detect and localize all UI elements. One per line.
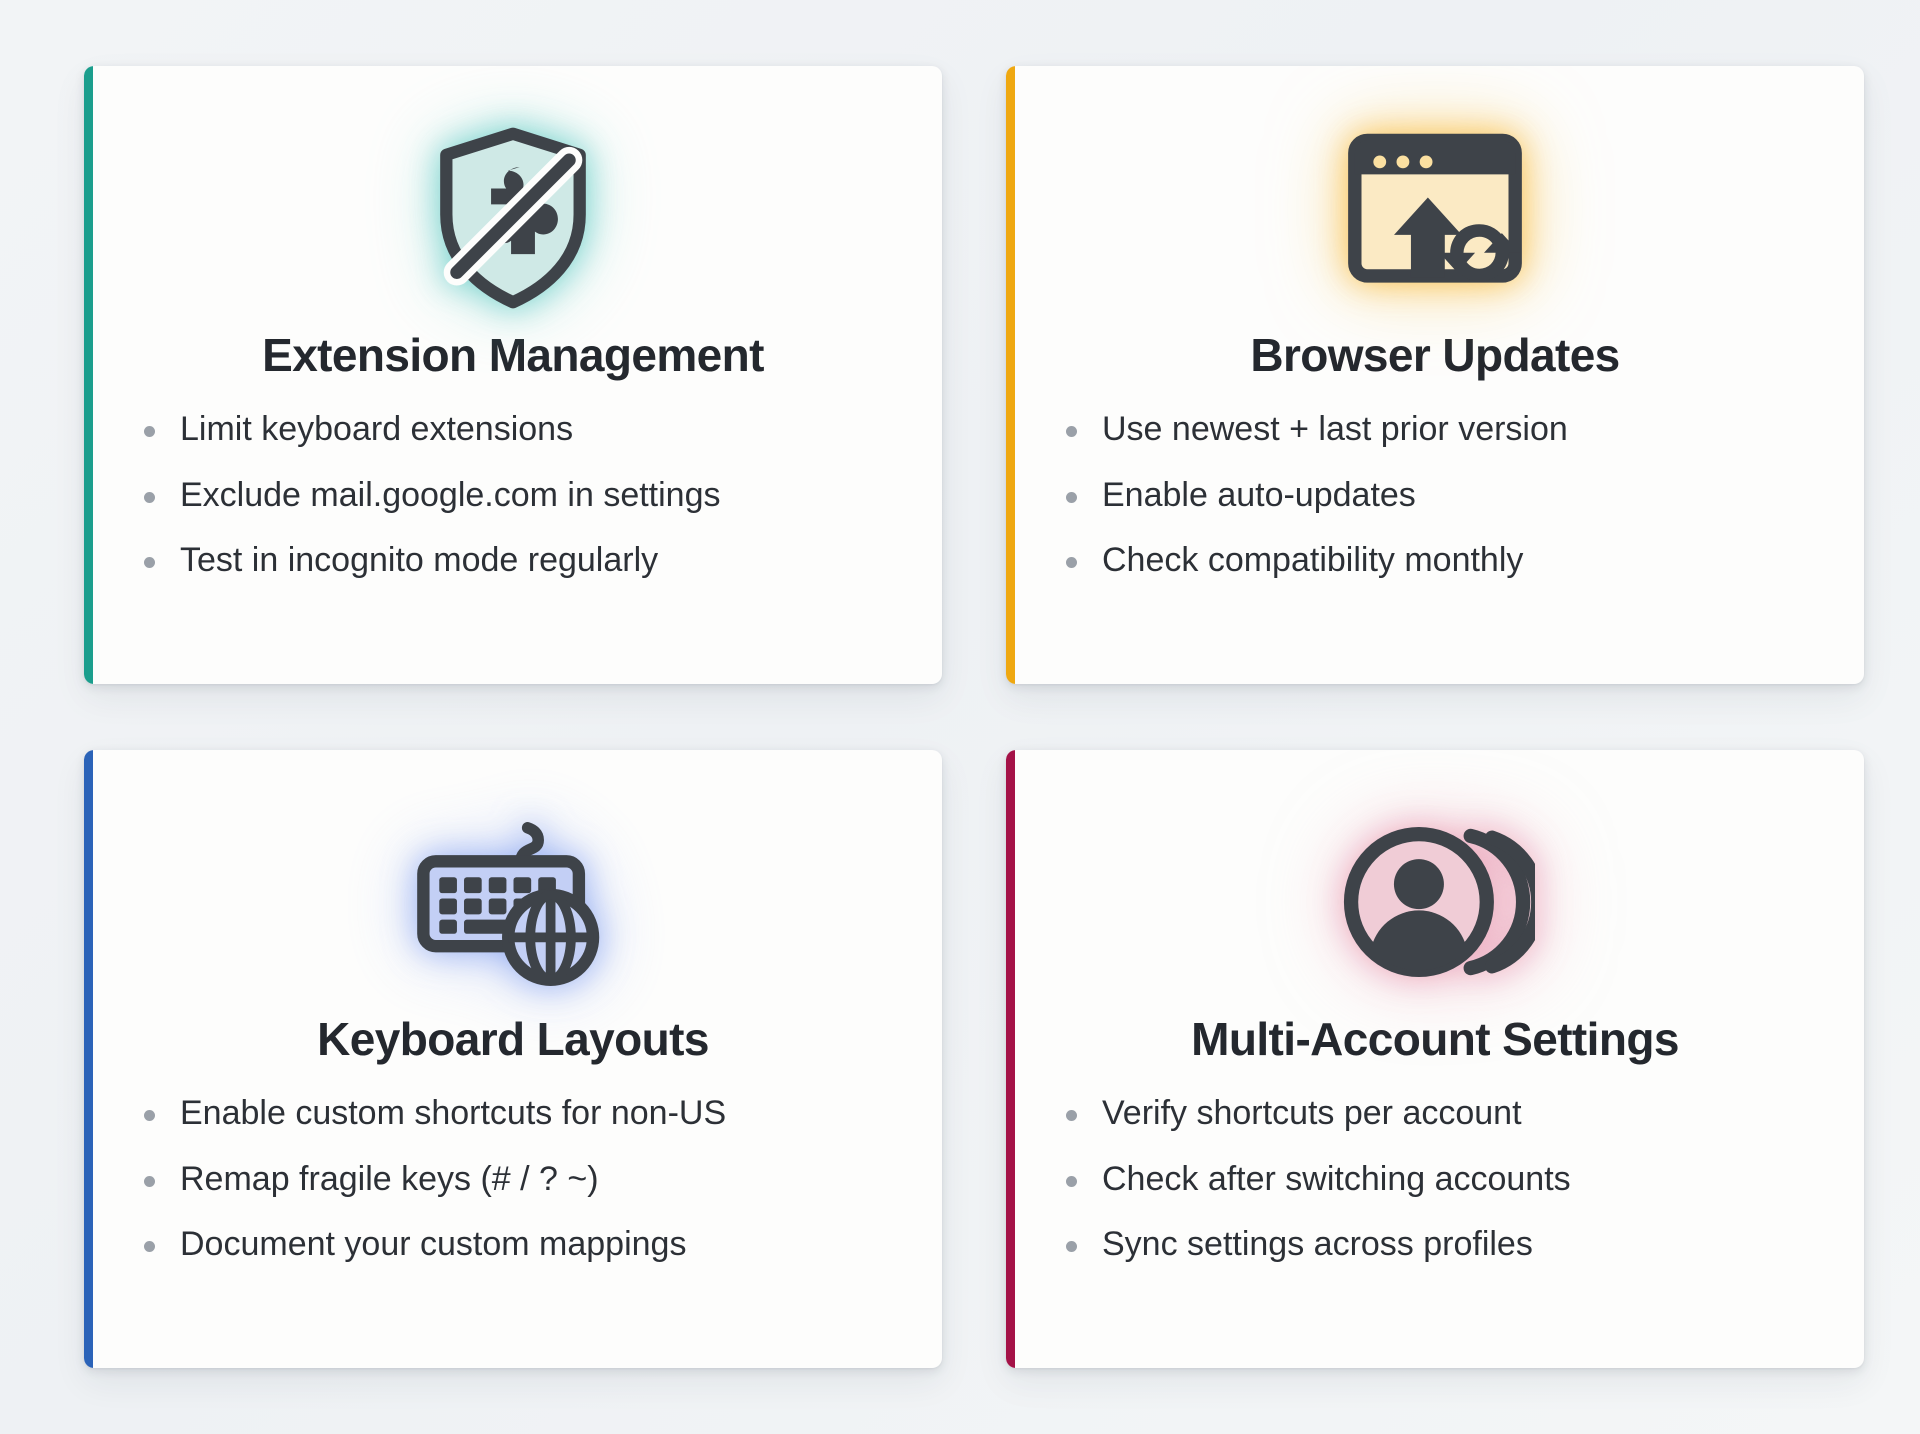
card-bullet-list: Enable custom shortcuts for non-US Remap… bbox=[124, 1093, 902, 1265]
multiple-user-accounts-icon bbox=[1335, 818, 1535, 986]
shield-puzzle-slash-icon bbox=[424, 125, 602, 311]
keyboard-globe-icon bbox=[411, 817, 616, 987]
list-item: Exclude mail.google.com in settings bbox=[138, 475, 902, 516]
card-browser-updates[interactable]: Browser Updates Use newest + last prior … bbox=[1006, 66, 1864, 684]
card-extension-management[interactable]: Extension Management Limit keyboard exte… bbox=[84, 66, 942, 684]
card-icon-container bbox=[124, 110, 902, 325]
card-multi-account-settings[interactable]: Multi-Account Settings Verify shortcuts … bbox=[1006, 750, 1864, 1368]
card-title: Browser Updates bbox=[1250, 331, 1619, 379]
card-title: Multi-Account Settings bbox=[1191, 1015, 1679, 1063]
card-bullet-list: Limit keyboard extensions Exclude mail.g… bbox=[124, 409, 902, 581]
list-item: Use newest + last prior version bbox=[1060, 409, 1824, 450]
card-title: Extension Management bbox=[262, 331, 764, 379]
card-keyboard-layouts[interactable]: Keyboard Layouts Enable custom shortcuts… bbox=[84, 750, 942, 1368]
list-item: Enable custom shortcuts for non-US bbox=[138, 1093, 902, 1134]
list-item: Enable auto-updates bbox=[1060, 475, 1824, 516]
list-item: Check compatibility monthly bbox=[1060, 540, 1824, 581]
list-item: Verify shortcuts per account bbox=[1060, 1093, 1824, 1134]
card-grid: Extension Management Limit keyboard exte… bbox=[0, 0, 1920, 1434]
list-item: Document your custom mappings bbox=[138, 1224, 902, 1265]
card-icon-container bbox=[124, 794, 902, 1009]
list-item: Check after switching accounts bbox=[1060, 1159, 1824, 1200]
browser-window-upload-sync-icon bbox=[1337, 128, 1533, 308]
list-item: Sync settings across profiles bbox=[1060, 1224, 1824, 1265]
card-bullet-list: Use newest + last prior version Enable a… bbox=[1046, 409, 1824, 581]
card-bullet-list: Verify shortcuts per account Check after… bbox=[1046, 1093, 1824, 1265]
list-item: Test in incognito mode regularly bbox=[138, 540, 902, 581]
card-icon-container bbox=[1046, 794, 1824, 1009]
card-icon-container bbox=[1046, 110, 1824, 325]
card-title: Keyboard Layouts bbox=[317, 1015, 709, 1063]
list-item: Remap fragile keys (# / ? ~) bbox=[138, 1159, 902, 1200]
list-item: Limit keyboard extensions bbox=[138, 409, 902, 450]
